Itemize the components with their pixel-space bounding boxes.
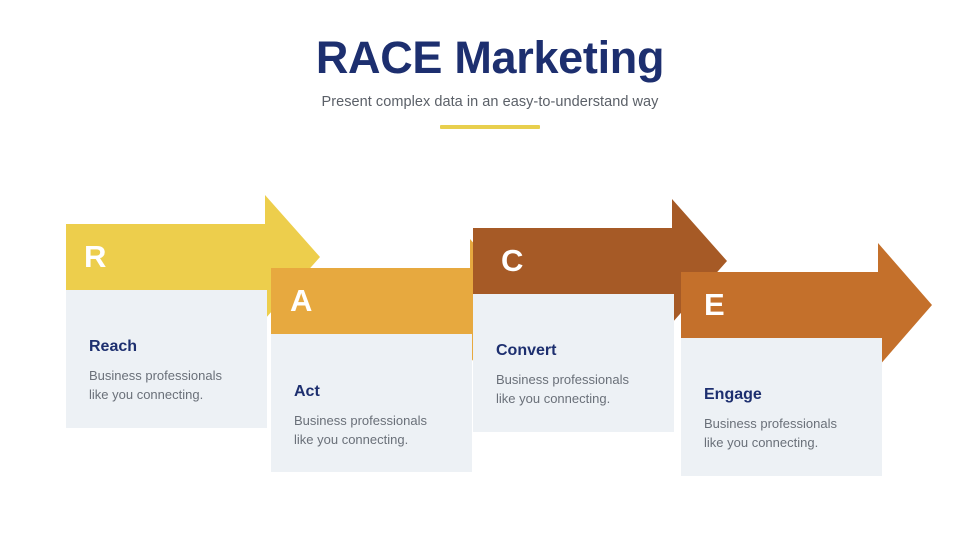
arrow-letter-reach: R bbox=[84, 241, 106, 272]
step-card-act[interactable]: Act Business professionals like you conn… bbox=[271, 334, 472, 472]
card-description-convert: Business professionals like you connecti… bbox=[496, 371, 629, 409]
card-description-reach: Business professionals like you connecti… bbox=[89, 367, 222, 405]
card-title-engage: Engage bbox=[704, 386, 762, 404]
card-title-reach: Reach bbox=[89, 338, 137, 356]
step-card-engage[interactable]: Engage Business professionals like you c… bbox=[681, 338, 882, 476]
slide-canvas: RACE Marketing Present complex data in a… bbox=[0, 0, 980, 551]
card-title-act: Act bbox=[294, 383, 320, 401]
arrow-letter-convert: C bbox=[501, 245, 523, 276]
step-card-reach[interactable]: Reach Business professionals like you co… bbox=[66, 290, 267, 428]
arrow-letter-act: A bbox=[290, 285, 312, 316]
card-title-convert: Convert bbox=[496, 342, 556, 360]
arrow-letter-engage: E bbox=[704, 289, 725, 320]
card-description-engage: Business professionals like you connecti… bbox=[704, 415, 837, 453]
race-process-diagram: R A C E Reach Business professionals lik… bbox=[0, 0, 980, 551]
card-description-act: Business professionals like you connecti… bbox=[294, 412, 427, 450]
step-card-convert[interactable]: Convert Business professionals like you … bbox=[473, 294, 674, 432]
